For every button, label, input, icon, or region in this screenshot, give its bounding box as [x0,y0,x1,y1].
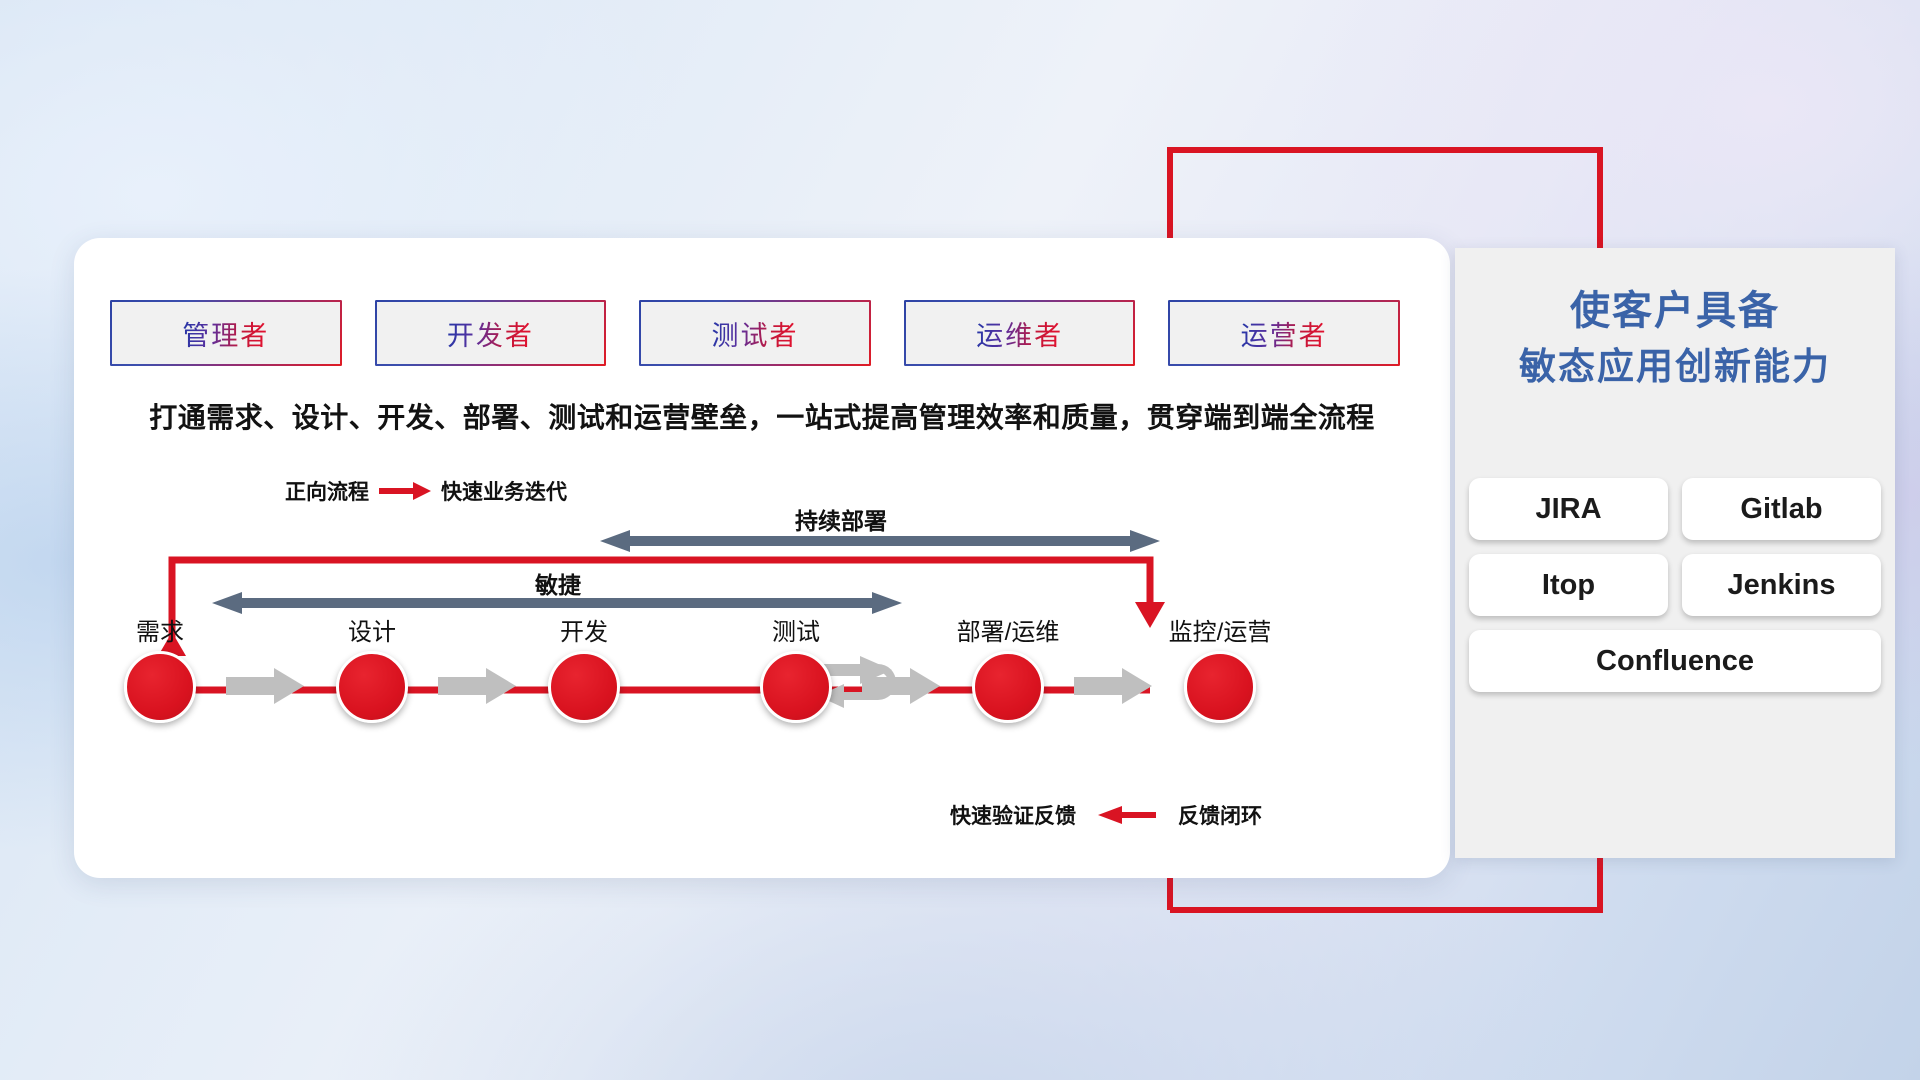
stage-design[interactable]: 设计 [312,612,432,723]
stage-dot-testing [760,651,832,723]
legend-forward-flow: 正向流程 快速业务迭代 [285,476,567,506]
role-box-operator[interactable]: 运营者 [1168,300,1400,366]
chevron-right-icon [1074,666,1152,706]
legend-feedback-loop: 快速验证反馈 反馈闭环 [950,800,1262,830]
continuous-deployment-double-arrow [600,528,1160,554]
legend-feedback-right-label: 反馈闭环 [1178,800,1262,830]
tool-list: JIRA Gitlab Itop Jenkins Confluence [1469,478,1881,692]
tool-jira[interactable]: JIRA [1469,478,1668,540]
role-label-ops: 运维者 [976,314,1063,353]
role-box-manager[interactable]: 管理者 [110,300,342,366]
stage-deploy-ops[interactable]: 部署/运维 [948,612,1068,723]
chevron-right-icon [862,666,940,706]
role-box-row: 管理者 开发者 测试者 运维者 运营者 [110,300,1400,366]
stage-label-deploy-ops: 部署/运维 [948,612,1068,647]
stage-dot-design [336,651,408,723]
stage-development[interactable]: 开发 [524,612,644,723]
role-label-tester: 测试者 [711,314,798,353]
stage-dot-deploy-ops [972,651,1044,723]
stage-testing[interactable]: 测试 [736,612,856,723]
panel-title: 使客户具备 敏态应用创新能力 [1455,248,1895,394]
stage-label-testing: 测试 [736,612,856,647]
tool-jenkins[interactable]: Jenkins [1682,554,1881,616]
stage-label-monitor-operate: 监控/运营 [1160,612,1280,647]
chevron-right-icon [438,666,516,706]
legend-feedback-left-label: 快速验证反馈 [950,800,1076,830]
role-label-operator: 运营者 [1241,314,1328,353]
stage-label-development: 开发 [524,612,644,647]
stage-dot-monitor-operate [1184,651,1256,723]
stage-dot-requirement [124,651,196,723]
tool-confluence[interactable]: Confluence [1469,630,1881,692]
stage-label-design: 设计 [312,612,432,647]
role-label-developer: 开发者 [447,314,534,353]
role-box-ops[interactable]: 运维者 [904,300,1136,366]
role-box-developer[interactable]: 开发者 [375,300,607,366]
legend-forward-right-label: 快速业务迭代 [441,476,567,506]
tool-gitlab[interactable]: Gitlab [1682,478,1881,540]
card-description: 打通需求、设计、开发、部署、测试和运营壁垒，一站式提高管理效率和质量，贯穿端到端… [74,396,1450,436]
stage-requirement[interactable]: 需求 [100,612,220,723]
role-label-manager: 管理者 [182,314,269,353]
role-box-tester[interactable]: 测试者 [639,300,871,366]
panel-title-line1: 使客户具备 [1570,289,1780,333]
stage-label-requirement: 需求 [100,612,220,647]
stage-dot-development [548,651,620,723]
stage-monitor-operate[interactable]: 监控/运营 [1160,612,1280,723]
chevron-right-icon [226,666,304,706]
red-right-arrow-icon [379,481,431,501]
stage-row: 需求 设计 开发 测试 部署/运维 监控/运营 [100,612,1430,732]
legend-forward-left-label: 正向流程 [285,476,369,506]
panel-title-line2: 敏态应用创新能力 [1455,340,1895,394]
tool-itop[interactable]: Itop [1469,554,1668,616]
red-left-arrow-icon [1098,805,1156,825]
right-panel: 使客户具备 敏态应用创新能力 JIRA Gitlab Itop Jenkins … [1455,248,1895,858]
